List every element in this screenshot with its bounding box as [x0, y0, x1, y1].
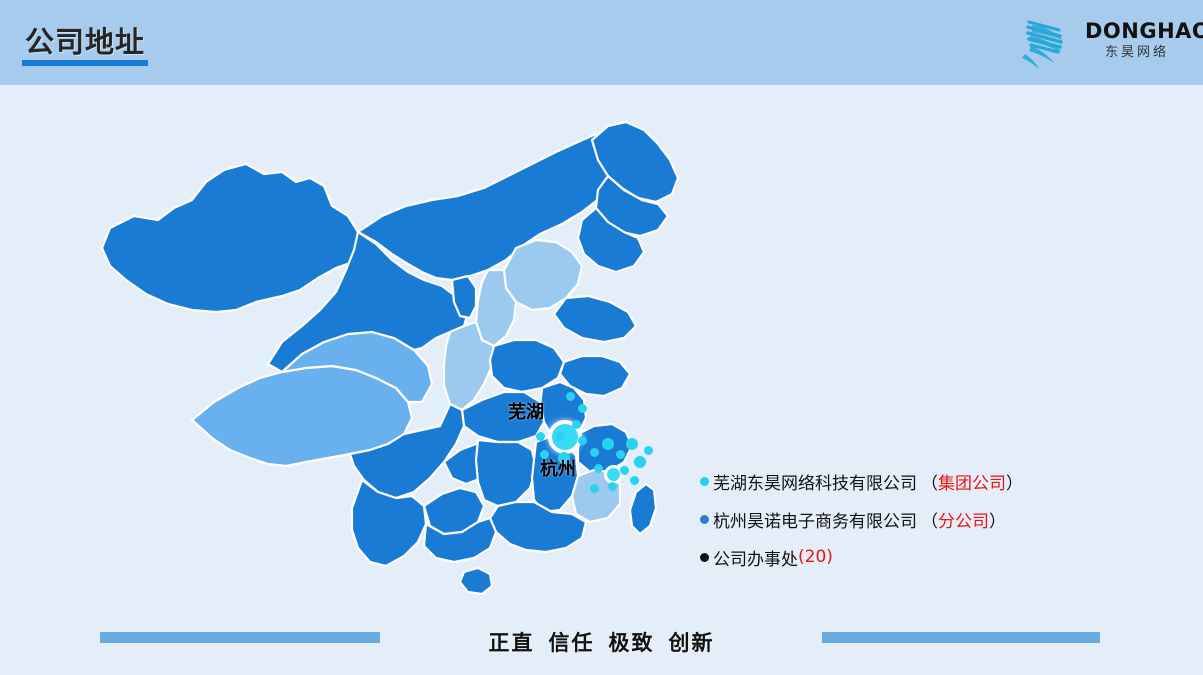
map-label-hangzhou: 杭州	[540, 455, 576, 481]
legend-tag-close: ）	[1006, 474, 1023, 494]
slogan-word-2: 信任	[549, 631, 595, 655]
marker-office[interactable]	[578, 404, 587, 413]
marker-office[interactable]	[566, 392, 575, 401]
legend-tag-open: （	[921, 474, 938, 494]
region-guangdong	[490, 502, 586, 552]
marker-office[interactable]	[590, 484, 599, 493]
region-xinjiang	[102, 164, 368, 312]
map-label-wuhu: 芜湖	[508, 398, 544, 424]
page-header: 公司地址 DONGHAO 东昊网络	[0, 0, 1203, 85]
legend-tag: （集团公司）	[921, 469, 1023, 494]
marker-office[interactable]	[620, 466, 629, 475]
region-shandong	[554, 296, 636, 342]
fan-wing-icon	[1019, 10, 1081, 72]
legend-tag: （分公司）	[921, 507, 1006, 532]
marker-office[interactable]	[602, 438, 614, 450]
marker-office[interactable]	[608, 482, 617, 491]
legend-tag-close: )	[826, 547, 833, 567]
legend-tag-open: (	[798, 547, 805, 567]
legend-tag: (20)	[798, 547, 833, 567]
marker-office[interactable]	[634, 456, 646, 468]
legend-item-branch-company[interactable]: 杭州昊诺电子商务有限公司 （分公司）	[700, 500, 1170, 538]
marker-office[interactable]	[616, 450, 625, 459]
marker-office[interactable]	[594, 464, 603, 473]
legend-bullet-icon	[700, 553, 709, 562]
marker-office[interactable]	[556, 432, 565, 441]
marker-office[interactable]	[590, 448, 599, 457]
legend-bullet-icon	[700, 515, 709, 524]
page-title: 公司地址	[25, 19, 145, 61]
legend-item-offices[interactable]: 公司办事处 (20)	[700, 538, 1170, 576]
logo-subtitle: 东昊网络	[1085, 44, 1189, 62]
china-map: 芜湖 杭州	[96, 120, 696, 610]
marker-office[interactable]	[630, 476, 639, 485]
slogan-word-4: 创新	[669, 631, 715, 655]
logo-name: DONGHAO	[1085, 19, 1189, 43]
logo-text: DONGHAO 东昊网络	[1085, 19, 1189, 62]
title-underline	[22, 60, 148, 66]
legend-label: 公司办事处	[713, 545, 798, 570]
legend: 芜湖东昊网络科技有限公司 （集团公司） 杭州昊诺电子商务有限公司 （分公司） 公…	[700, 462, 1170, 576]
legend-label: 杭州昊诺电子商务有限公司	[713, 507, 917, 532]
slogan-word-1: 正直	[489, 631, 535, 655]
marker-office[interactable]	[536, 432, 545, 441]
region-hunan	[476, 440, 536, 506]
legend-tag-open: （	[921, 512, 938, 532]
region-taiwan	[630, 484, 656, 534]
region-hainan	[460, 568, 492, 594]
legend-bullet-icon	[700, 477, 709, 486]
marker-office[interactable]	[644, 446, 653, 455]
legend-item-group-company[interactable]: 芜湖东昊网络科技有限公司 （集团公司）	[700, 462, 1170, 500]
legend-tag-text: 集团公司	[938, 474, 1006, 494]
legend-label: 芜湖东昊网络科技有限公司	[713, 469, 917, 494]
slogan-word-3: 极致	[609, 631, 655, 655]
footer-slogan: 正直信任极致创新	[0, 627, 1203, 657]
legend-tag-text: 20	[805, 547, 827, 567]
marker-office[interactable]	[572, 420, 581, 429]
legend-tag-text: 分公司	[938, 512, 989, 532]
marker-office[interactable]	[578, 436, 587, 445]
china-map-svg	[96, 120, 696, 610]
company-logo: DONGHAO 东昊网络	[1019, 8, 1189, 74]
legend-tag-close: ）	[989, 512, 1006, 532]
marker-office[interactable]	[626, 438, 638, 450]
